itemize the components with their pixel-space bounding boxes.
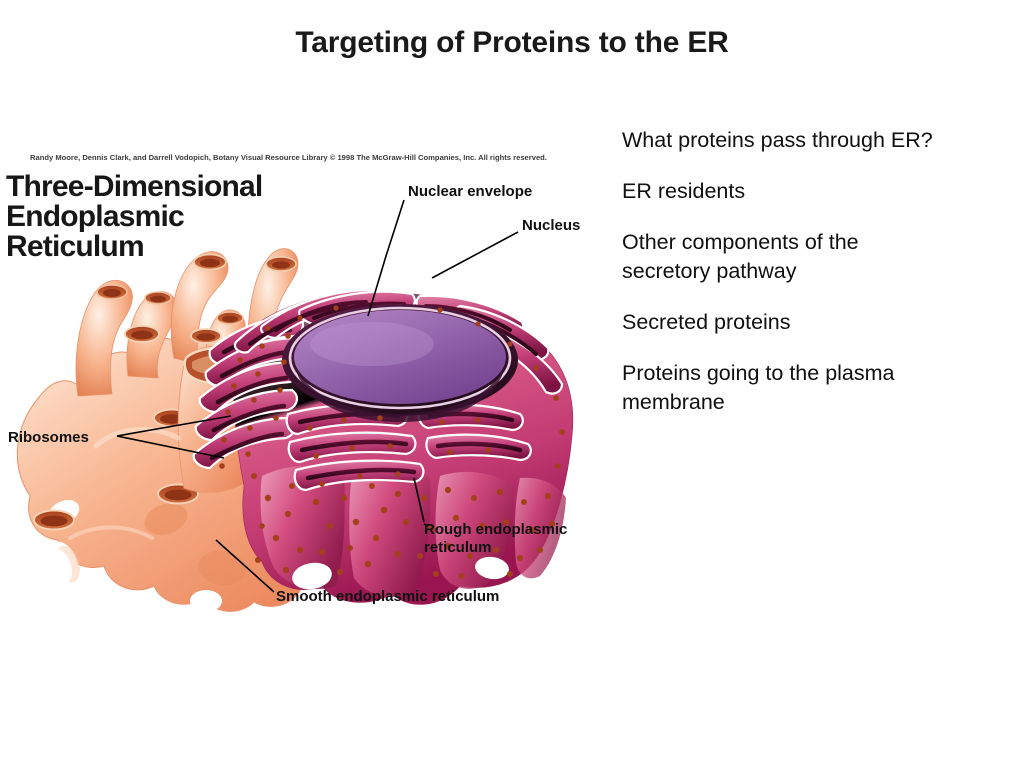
label-rough-er-line2: reticulum [424, 539, 492, 556]
body-text-block: What proteins pass through ER? ER reside… [622, 126, 994, 417]
label-nuclear-envelope: Nuclear envelope [408, 183, 532, 200]
body-line-plasma-membrane: Proteins going to the plasma membrane [622, 359, 994, 417]
body-line-secreted-proteins: Secreted proteins [622, 308, 994, 337]
er-illustration: Randy Moore, Dennis Clark, and Darrell V… [0, 146, 614, 616]
page-title: Targeting of Proteins to the ER [0, 26, 1024, 60]
label-nucleus-group: Nucleus [432, 217, 580, 278]
figure-heading-line1: Three-Dimensional [6, 170, 262, 203]
body-line-er-residents: ER residents [622, 177, 994, 206]
figure-heading-line2: Endoplasmic [6, 200, 184, 233]
label-smooth-er: Smooth endoplasmic reticulum [276, 588, 499, 605]
label-ribosomes: Ribosomes [8, 429, 89, 446]
label-nucleus: Nucleus [522, 217, 580, 234]
figure-credit-text: Randy Moore, Dennis Clark, and Darrell V… [30, 153, 547, 162]
body-line-other-components: Other components of the secretory pathwa… [622, 228, 994, 286]
label-rough-er-line1: Rough endoplasmic [424, 521, 567, 538]
figure-heading-line3: Reticulum [6, 230, 144, 263]
body-line-what-proteins: What proteins pass through ER? [622, 126, 994, 155]
